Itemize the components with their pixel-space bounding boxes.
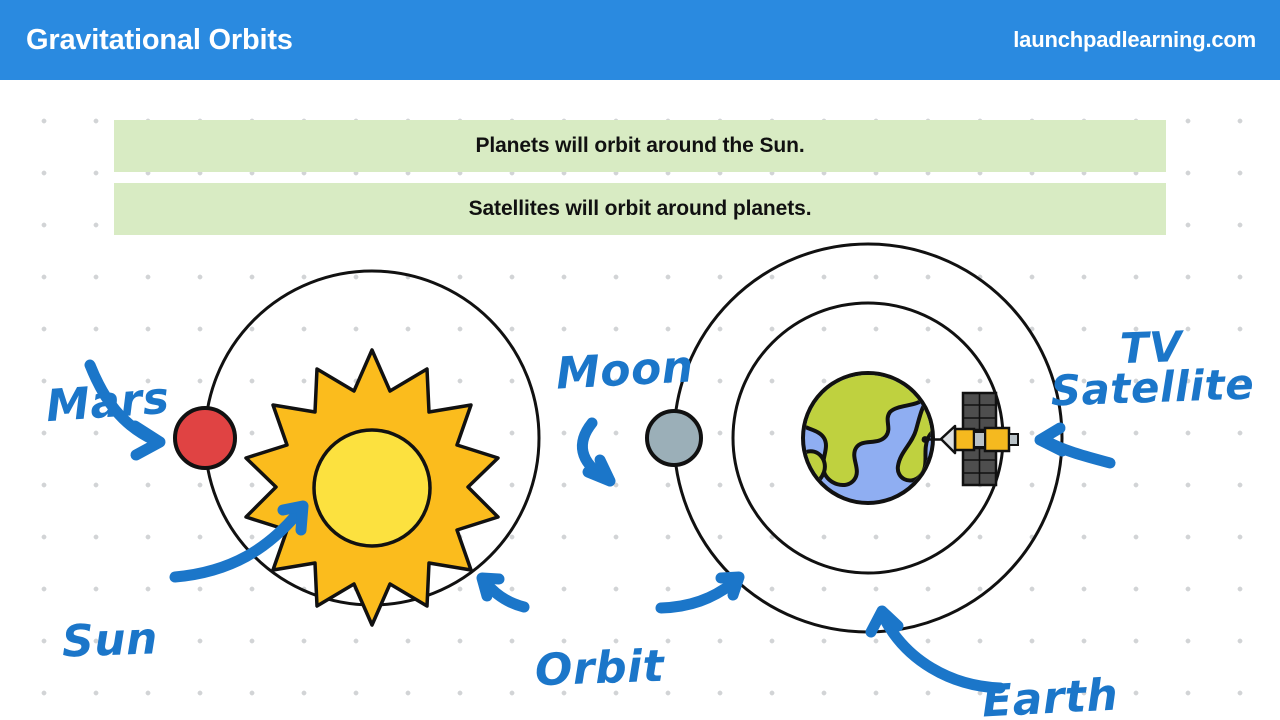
label-moon: Moon bbox=[555, 346, 695, 395]
mars-planet bbox=[175, 408, 235, 468]
label-mars: Mars bbox=[45, 378, 171, 428]
satellite-body-right bbox=[985, 428, 1009, 451]
satellite-body-left bbox=[955, 429, 974, 450]
moon-body bbox=[647, 411, 701, 465]
satellite-thruster bbox=[1009, 434, 1018, 445]
satellite-connector bbox=[974, 432, 985, 447]
sun-core bbox=[314, 430, 430, 546]
label-orbit: Orbit bbox=[534, 646, 665, 692]
slide-header: Gravitational Orbits launchpadlearning.c… bbox=[0, 0, 1280, 80]
slide-canvas: Gravitational Orbits launchpadlearning.c… bbox=[0, 0, 1280, 720]
page-title: Gravitational Orbits bbox=[26, 26, 293, 55]
solar-system-group bbox=[175, 271, 539, 625]
satellite-dish bbox=[941, 426, 955, 453]
sun-illustration bbox=[246, 350, 498, 625]
label-sun: Sun bbox=[61, 618, 158, 663]
label-earth: Earth bbox=[981, 674, 1119, 720]
earth-system-group bbox=[647, 244, 1062, 632]
tv-satellite-illustration bbox=[922, 393, 1018, 485]
tv-satellite-arrow-head bbox=[1040, 428, 1062, 451]
annotation-arrows bbox=[90, 365, 1110, 688]
mars-arrow-head bbox=[135, 426, 160, 455]
orbit-right-arrow-shaft bbox=[661, 583, 733, 608]
satellite-feed-horn bbox=[922, 436, 929, 443]
dotted-background: Planets will orbit around the Sun. Satel… bbox=[0, 80, 1280, 720]
earth-illustration bbox=[774, 370, 950, 538]
site-brand: launchpadlearning.com bbox=[1013, 29, 1256, 51]
label-tv-satellite: TV Satellite bbox=[1049, 324, 1255, 411]
